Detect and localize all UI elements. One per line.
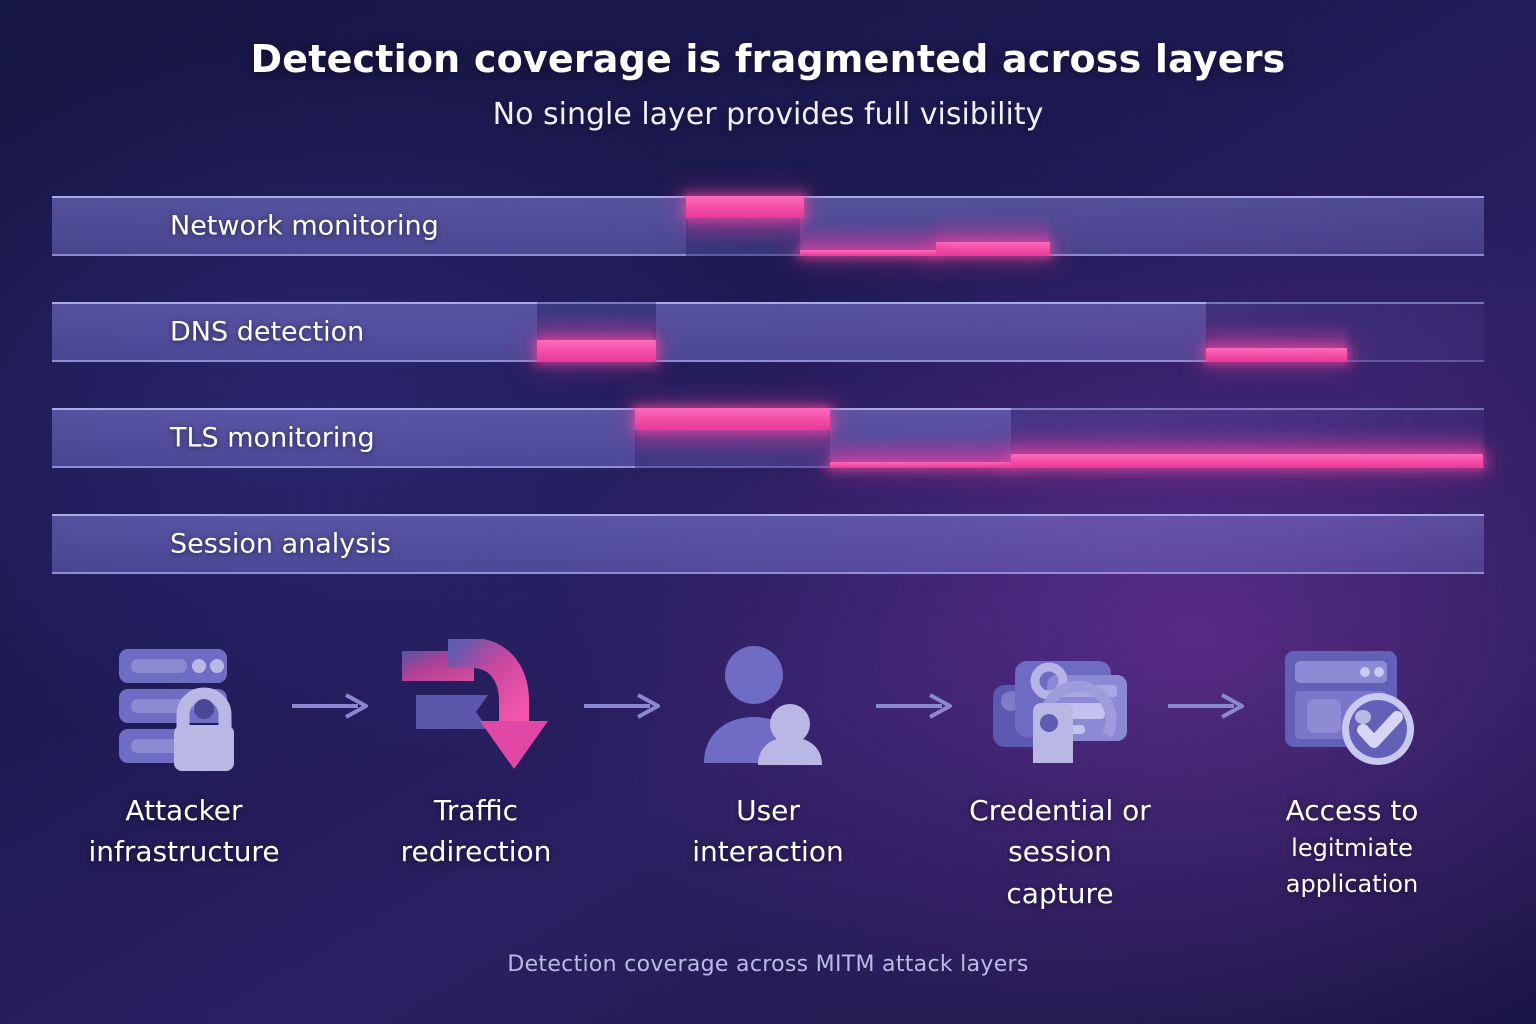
coverage-row-label: Session analysis — [170, 529, 391, 560]
coverage-row[interactable]: Network monitoring — [52, 196, 1484, 256]
flow-step[interactable]: Credential orsession capture — [957, 636, 1163, 914]
flow-step-label-line2: redirection — [401, 831, 552, 872]
coverage-chart: Network monitoringDNS detectionTLS monit… — [52, 196, 1484, 606]
coverage-bar[interactable] — [800, 250, 936, 256]
server-lock-icon — [104, 636, 264, 776]
coverage-row[interactable]: TLS monitoring — [52, 408, 1484, 468]
arrow-right-icon — [579, 636, 665, 776]
coverage-block — [656, 302, 1206, 362]
arrow-right-icon — [287, 636, 373, 776]
flow-step[interactable]: Userinteraction — [665, 636, 871, 873]
flow-step-label-line1: User — [736, 794, 800, 827]
flow-step-label-line2: legitmiate application — [1249, 831, 1455, 902]
flow-step[interactable]: Trafficredirection — [373, 636, 579, 873]
user-interaction-icon — [688, 636, 848, 776]
arrow-right-icon — [1163, 636, 1249, 776]
flow-step-label: Trafficredirection — [401, 790, 552, 873]
flow-step-label: Access tolegitmiate application — [1249, 790, 1455, 902]
infographic-canvas: Detection coverage is fragmented across … — [0, 0, 1536, 1024]
coverage-row-label: TLS monitoring — [170, 423, 375, 454]
flow-step-label: Attackerinfrastructure — [88, 790, 279, 873]
coverage-bar[interactable] — [686, 196, 803, 218]
coverage-row[interactable]: Session analysis — [52, 514, 1484, 574]
page-subtitle: No single layer provides full visibility — [0, 98, 1536, 133]
flow-step-label: Credential orsession capture — [957, 790, 1163, 914]
coverage-row[interactable]: DNS detection — [52, 302, 1484, 362]
coverage-bar[interactable] — [635, 408, 830, 430]
redirect-arrow-icon — [396, 636, 556, 776]
header: Detection coverage is fragmented across … — [0, 38, 1536, 132]
coverage-bar[interactable] — [1206, 348, 1346, 362]
flow-step-label: Userinteraction — [692, 790, 843, 873]
arrow-right-icon — [871, 636, 957, 776]
flow-step-label-line1: Traffic — [434, 794, 518, 827]
flow-step-label-line1: Credential or — [969, 794, 1151, 827]
flow-step[interactable]: Attackerinfrastructure — [81, 636, 287, 873]
credential-capture-icon — [980, 636, 1140, 776]
coverage-bar[interactable] — [1011, 454, 1482, 468]
coverage-bar[interactable] — [936, 242, 1051, 256]
verified-application-icon — [1272, 636, 1432, 776]
flow-step-label-line2: infrastructure — [88, 831, 279, 872]
flow-step-label-line2: interaction — [692, 831, 843, 872]
flow-step[interactable]: Access tolegitmiate application — [1249, 636, 1455, 902]
chart-caption: Detection coverage across MITM attack la… — [0, 952, 1536, 977]
flow-step-label-line1: Access to — [1286, 794, 1419, 827]
flow-step-label-line1: Attacker — [125, 794, 242, 827]
coverage-row-label: DNS detection — [170, 317, 364, 348]
attack-flow-diagram: Attackerinfrastructure Trafficredirectio… — [0, 636, 1536, 916]
page-title: Detection coverage is fragmented across … — [0, 38, 1536, 82]
coverage-bar[interactable] — [537, 340, 656, 362]
coverage-bar[interactable] — [830, 462, 1012, 468]
flow-step-label-line2: session capture — [957, 831, 1163, 914]
coverage-row-label: Network monitoring — [170, 211, 439, 242]
